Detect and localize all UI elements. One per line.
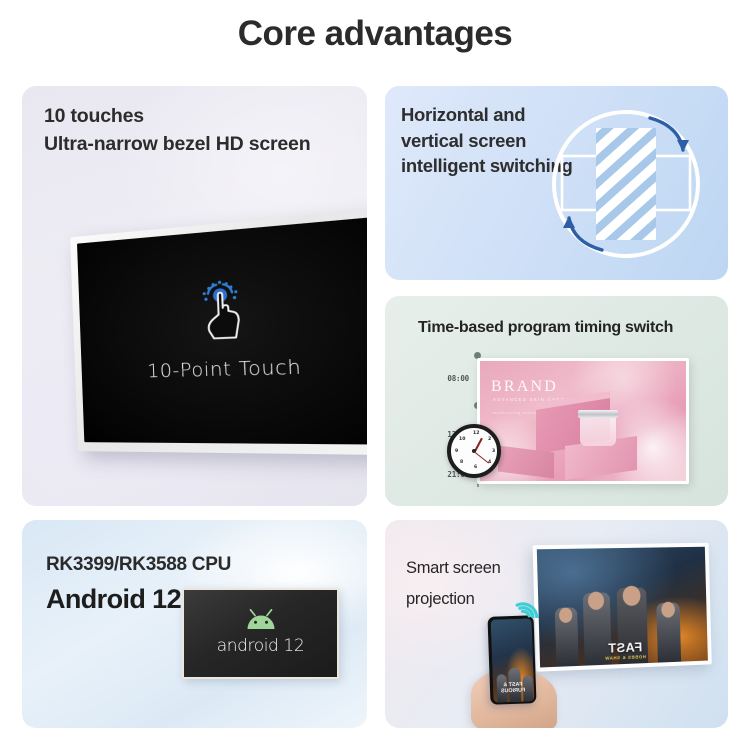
ad-box-left — [498, 446, 554, 479]
clock-numeral: 2 — [488, 437, 491, 442]
projection-panel[interactable]: Smart screen projection FAST HOBBS & SHA… — [385, 520, 728, 728]
analog-wall-clock-icon: 12 2 3 4 6 8 9 10 — [447, 424, 501, 478]
clock-hub — [472, 449, 476, 453]
clock-numeral: 12 — [473, 431, 479, 436]
touch-panel-heading: 10 touches Ultra-narrow bezel HD screen — [44, 103, 310, 158]
10-touch-panel[interactable]: 10 touches Ultra-narrow bezel HD screen — [22, 86, 367, 506]
clock-numeral: 4 — [488, 460, 491, 465]
android-display-screen: android 12 — [182, 588, 339, 679]
cpu-panel[interactable]: RK3399/RK3588 CPU Android 12 android 12 — [22, 520, 367, 728]
touch-panel-line1: 10 touches — [44, 103, 310, 131]
clock-numeral: 6 — [474, 465, 477, 470]
android-robot-icon — [245, 609, 276, 629]
tv-screen-icon: FAST HOBBS & SHAW — [533, 543, 712, 672]
phone-movie-title: FAST & FURIOUS — [501, 683, 526, 695]
ad-brand-text: BRAND — [491, 378, 558, 396]
ad-display-screen: BRAND ADVANCED SKIN CARE moisturizing es… — [477, 358, 689, 484]
timeline-label: 08:00 — [423, 374, 469, 383]
projection-line1: Smart screen — [406, 553, 526, 584]
timing-panel-heading: Time-based program timing switch — [418, 319, 673, 337]
cpu-label: RK3399/RK3588 CPU — [46, 554, 231, 576]
clock-numeral: 3 — [492, 449, 495, 454]
clock-numeral: 10 — [459, 437, 465, 442]
os-label: Android 12 — [46, 584, 181, 615]
monitor-display: 10-Point Touch — [70, 208, 367, 455]
cosmetic-jar-lid — [578, 410, 618, 418]
monitor-screen-label: 10-Point Touch — [81, 353, 367, 383]
android-screen-text: android 12 — [184, 636, 337, 656]
touch-panel-line2: Ultra-narrow bezel HD screen — [44, 131, 310, 159]
ad-content: BRAND ADVANCED SKIN CARE moisturizing es… — [480, 361, 686, 481]
smartphone-icon: FAST & FURIOUS — [487, 615, 536, 705]
phone-screen-content: FAST & FURIOUS — [490, 618, 534, 702]
monitor-screen: 10-Point Touch — [77, 217, 367, 445]
clock-numeral: 9 — [455, 449, 458, 454]
screen-rotation-icon — [538, 94, 714, 272]
cosmetic-jar-icon — [580, 416, 616, 446]
page-title: Core advantages — [0, 14, 750, 54]
wifi-cast-icon — [507, 582, 547, 618]
tv-movie-title: FAST — [608, 640, 643, 654]
timing-panel[interactable]: Time-based program timing switch 08:00 1… — [385, 296, 728, 506]
hand-touch-icon — [190, 276, 252, 341]
orientation-panel[interactable]: Horizontal and vertical screen intellige… — [385, 86, 728, 280]
clock-numeral: 8 — [460, 460, 463, 465]
tv-screen-content: FAST HOBBS & SHAW — [537, 547, 708, 668]
